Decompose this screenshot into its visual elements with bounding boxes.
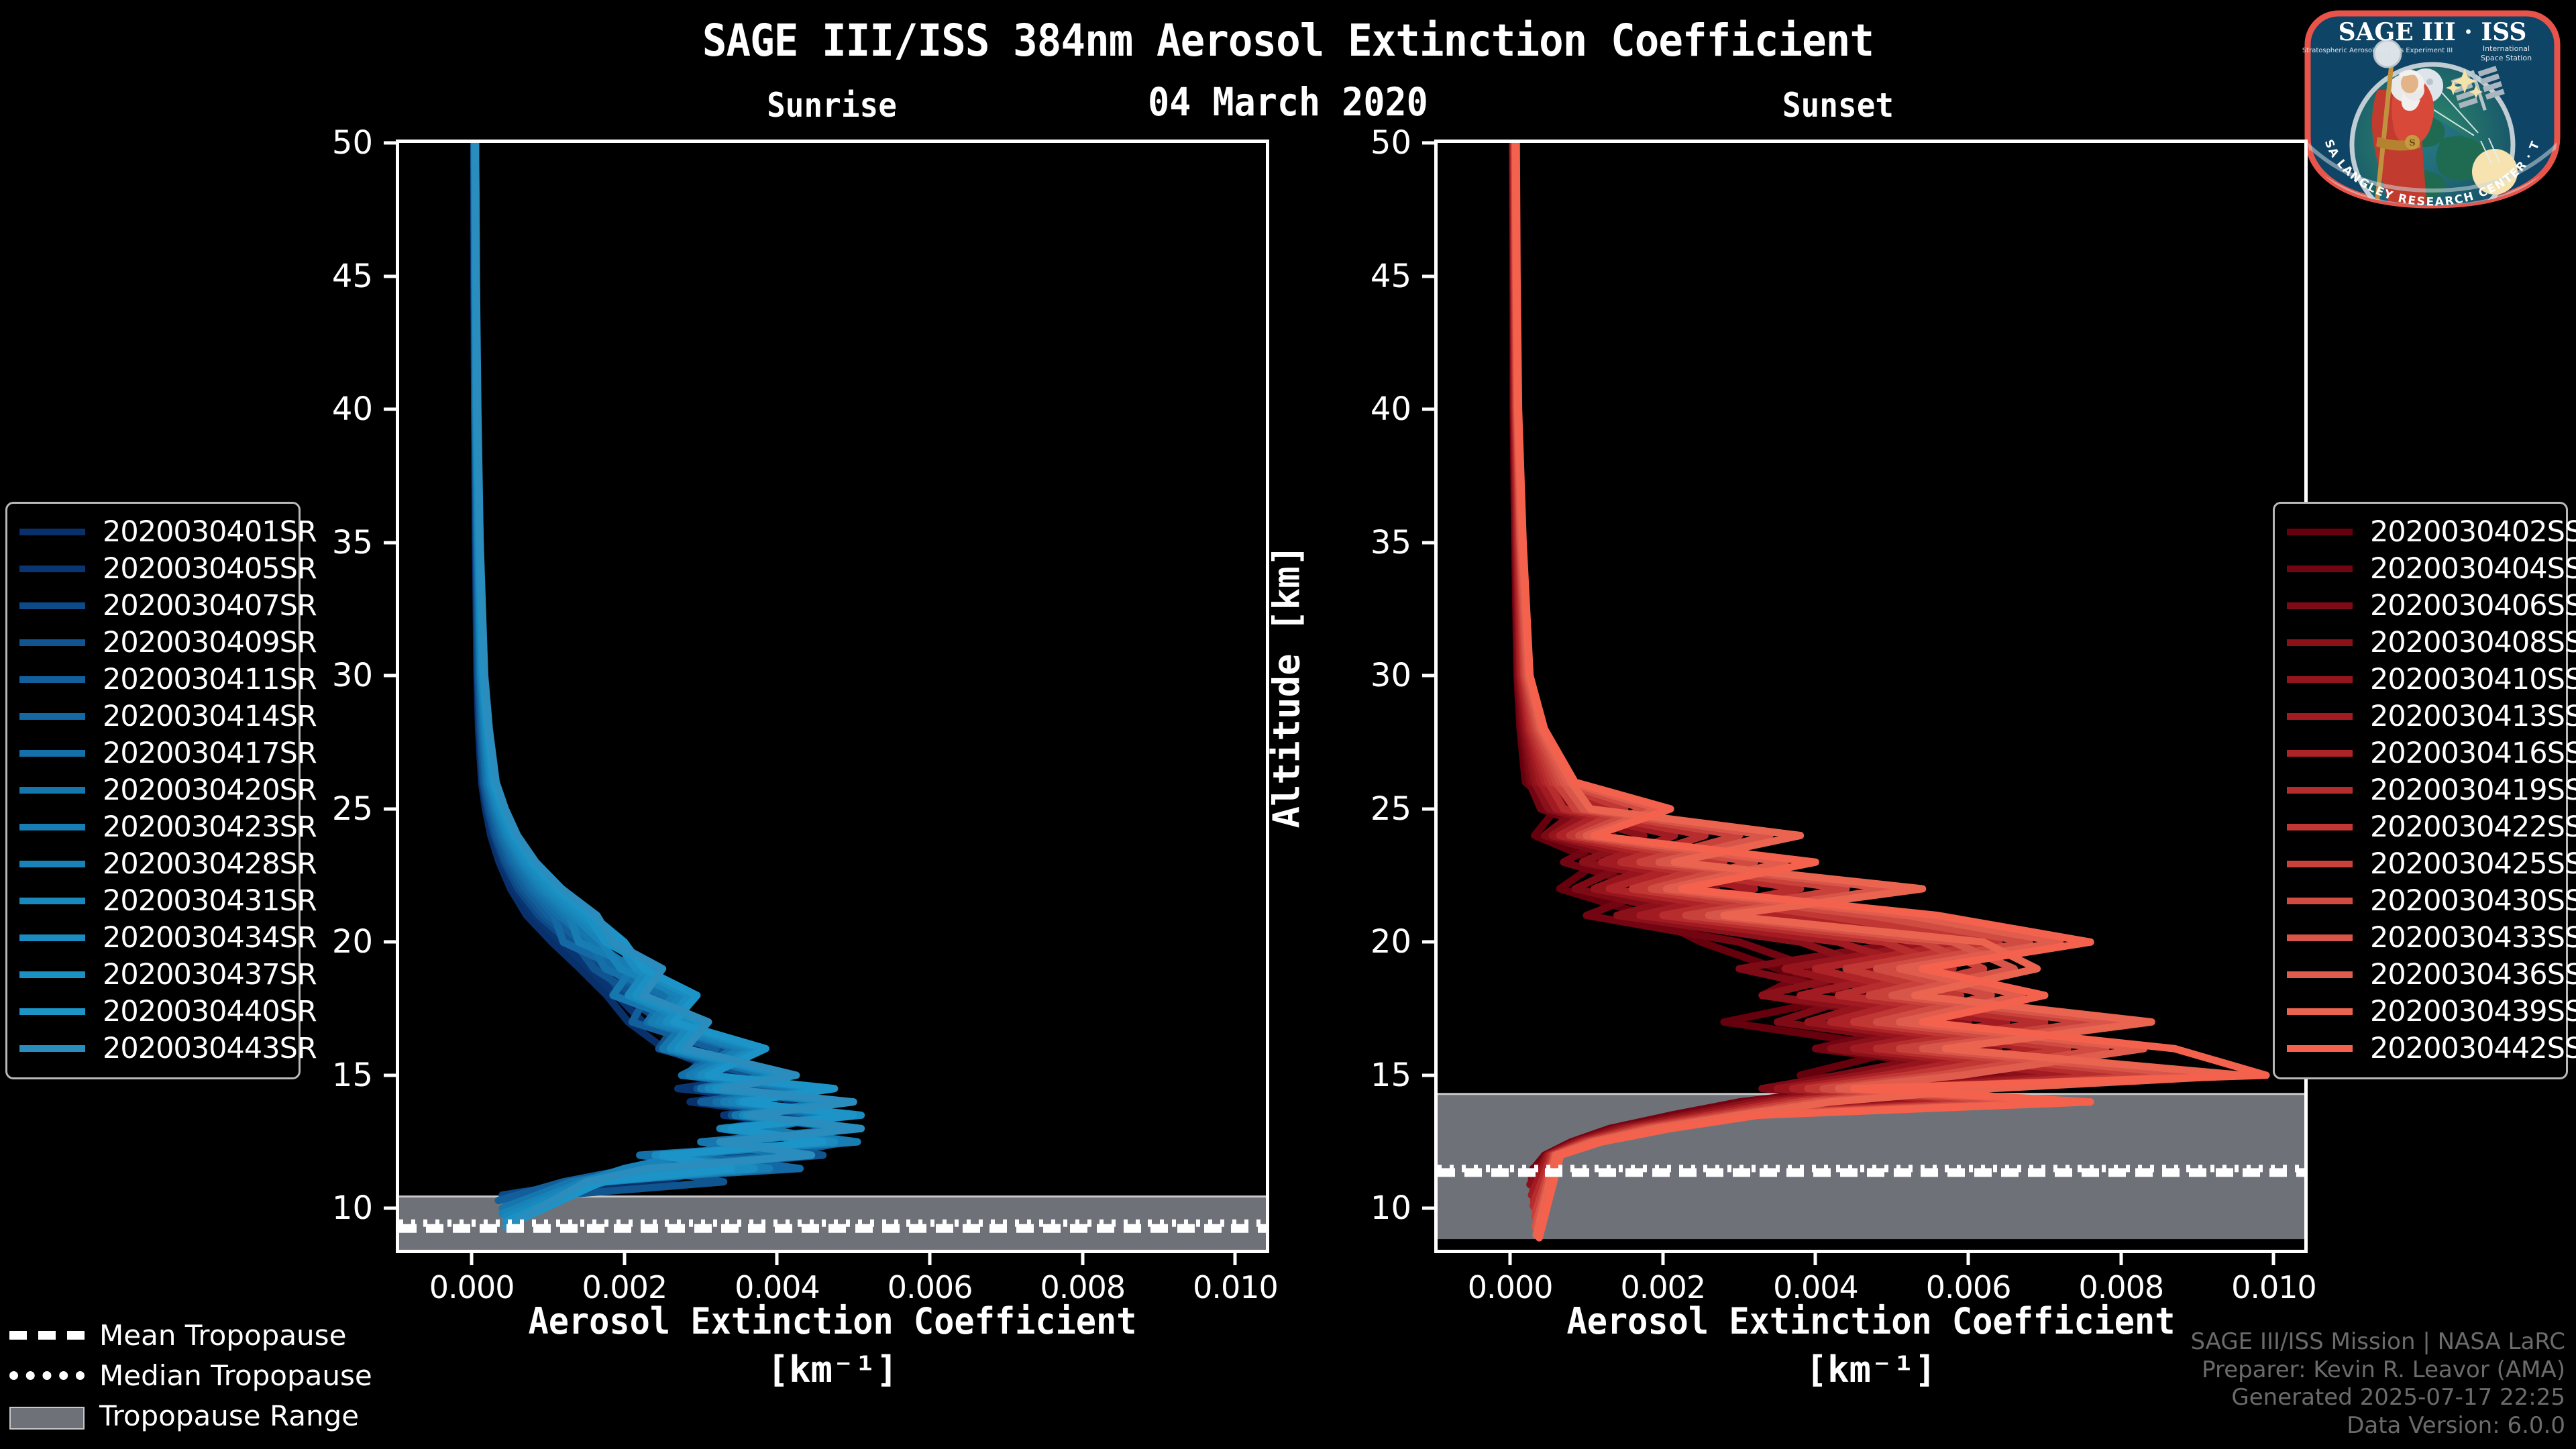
legend-sunset[interactable]: 2020030402SS2020030404SS2020030406SS2020… [2273, 502, 2568, 1079]
x-axis-tick-mark [470, 1253, 474, 1265]
y-axis-tick-mark [384, 1207, 396, 1210]
x-axis-tick-mark [623, 1253, 626, 1265]
x-axis-unit-sunset: [km⁻¹] [1434, 1348, 2308, 1391]
panel-title-sunset: Sunset [1715, 86, 1962, 125]
y-axis-tick-mark [384, 941, 396, 944]
y-axis-tick-label: 25 [1371, 790, 1411, 828]
x-axis-tick-mark [775, 1253, 779, 1265]
x-axis-tick-mark [1814, 1253, 1817, 1265]
y-axis-tick-mark [1422, 674, 1434, 678]
legend-color-swatch [2287, 639, 2353, 646]
y-axis-tick-mark [384, 1073, 396, 1077]
legend-color-swatch [19, 713, 85, 720]
y-axis-tick-mark [384, 274, 396, 278]
legend-item[interactable]: 2020030428SR [19, 845, 286, 882]
legend-color-swatch [19, 566, 85, 572]
y-axis-tick-mark [384, 142, 396, 145]
legend-item-label: 2020030406SS [2370, 589, 2576, 623]
legend-item[interactable]: 2020030436SS [2287, 956, 2554, 993]
legend-item-label: 2020030416SS [2370, 737, 2576, 770]
legend-item-label: 2020030401SR [103, 515, 317, 549]
x-axis-tick-mark [2272, 1253, 2275, 1265]
tropopause-key-label: Median Tropopause [99, 1359, 372, 1392]
y-axis-label-sunset: Altitude [km] [1266, 560, 1308, 828]
shaded-band-icon [9, 1407, 85, 1424]
y-axis-tick-mark [1422, 941, 1434, 944]
legend-item[interactable]: 2020030425SS [2287, 845, 2554, 882]
legend-item-label: 2020030410SS [2370, 663, 2576, 696]
y-axis-tick-mark [1422, 1073, 1434, 1077]
plot-panel-sunset [1434, 140, 2308, 1253]
legend-item-label: 2020030404SS [2370, 552, 2576, 586]
legend-item[interactable]: 2020030430SS [2287, 882, 2554, 919]
x-axis-unit-sunrise: [km⁻¹] [396, 1348, 1269, 1391]
legend-item-label: 2020030413SS [2370, 700, 2576, 733]
legend-color-swatch [2287, 676, 2353, 683]
legend-item[interactable]: 2020030416SS [2287, 735, 2554, 771]
y-axis-tick-label: 30 [1371, 657, 1411, 694]
data-series-line [475, 143, 854, 1208]
legend-item-label: 2020030419SS [2370, 773, 2576, 807]
y-axis-tick-label: 25 [332, 790, 373, 828]
logo-subtitle-right-1: International [2483, 44, 2530, 53]
x-axis-tick-mark [1234, 1253, 1237, 1265]
credits-line: Preparer: Kevin R. Leavor (AMA) [2190, 1356, 2565, 1384]
credits-block: SAGE III/ISS Mission | NASA LaRCPreparer… [2190, 1328, 2565, 1440]
legend-item[interactable]: 2020030401SR [19, 513, 286, 550]
legend-item-label: 2020030402SS [2370, 515, 2576, 549]
legend-color-swatch [19, 1008, 85, 1015]
legend-color-swatch [19, 787, 85, 794]
y-axis-tick-label: 15 [332, 1057, 373, 1094]
legend-item[interactable]: 2020030420SR [19, 771, 286, 808]
legend-item-label: 2020030428SR [103, 847, 317, 881]
legend-item-label: 2020030417SR [103, 737, 317, 770]
tropopause-key-label: Mean Tropopause [99, 1319, 346, 1352]
y-axis-tick-label: 35 [332, 524, 373, 561]
legend-color-swatch [2287, 1045, 2353, 1052]
legend-item-label: 2020030425SS [2370, 847, 2576, 881]
legend-item[interactable]: 2020030423SR [19, 808, 286, 845]
legend-color-swatch [2287, 750, 2353, 757]
x-axis-tick-mark [1967, 1253, 1970, 1265]
x-axis-tick-mark [2119, 1253, 2123, 1265]
y-axis-tick-label: 20 [332, 923, 373, 961]
legend-item[interactable]: 2020030434SR [19, 919, 286, 956]
legend-color-swatch [19, 824, 85, 830]
y-axis-tick-label: 50 [332, 124, 373, 162]
legend-item-label: 2020030431SR [103, 884, 317, 918]
legend-item-label: 2020030420SR [103, 773, 317, 807]
y-axis-tick-mark [1422, 408, 1434, 411]
legend-item-label: 2020030434SR [103, 921, 317, 955]
logo-subtitle-right-2: Space Station [2481, 54, 2532, 62]
tropopause-key: Mean TropopauseMedian TropopauseTropopau… [9, 1315, 385, 1436]
legend-color-swatch [2287, 602, 2353, 609]
legend-item[interactable]: 2020030437SR [19, 956, 286, 993]
legend-item-label: 2020030436SS [2370, 958, 2576, 991]
plot-panel-sunrise [396, 140, 1269, 1253]
legend-item[interactable]: 2020030409SR [19, 624, 286, 661]
legend-color-swatch [19, 971, 85, 978]
data-series-line [475, 143, 861, 1219]
tropopause-key-label: Tropopause Range [99, 1399, 359, 1432]
legend-color-swatch [2287, 566, 2353, 572]
legend-color-swatch [19, 861, 85, 867]
y-axis-tick-mark [384, 408, 396, 411]
legend-item-label: 2020030433SS [2370, 921, 2576, 955]
y-axis-tick-mark [1422, 274, 1434, 278]
legend-color-swatch [19, 602, 85, 609]
legend-color-swatch [2287, 824, 2353, 830]
legend-item-label: 2020030423SR [103, 810, 317, 844]
data-series-line [476, 143, 857, 1222]
legend-item-label: 2020030440SR [103, 995, 317, 1028]
legend-item[interactable]: 2020030443SR [19, 1030, 286, 1067]
dashed-line-icon [9, 1326, 85, 1344]
figure-root: SAGE III/ISS 384nm Aerosol Extinction Co… [0, 0, 2576, 1449]
legend-item-label: 2020030443SR [103, 1032, 317, 1065]
y-axis-tick-label: 40 [332, 390, 373, 428]
date-title: 04 March 2020 [103, 79, 2473, 125]
legend-color-swatch [19, 1045, 85, 1052]
logo-subtitle-left: Stratospheric Aerosol and Gas Experiment… [2302, 47, 2453, 54]
legend-item[interactable]: 2020030422SS [2287, 808, 2554, 845]
legend-color-swatch [19, 639, 85, 646]
y-axis-tick-label: 30 [332, 657, 373, 694]
y-axis-tick-mark [1422, 807, 1434, 810]
panel-title-sunrise: Sunrise [708, 86, 955, 125]
data-series-line [476, 143, 861, 1227]
legend-sunrise[interactable]: 2020030401SR2020030405SR2020030407SR2020… [5, 502, 301, 1079]
legend-item-label: 2020030411SR [103, 663, 317, 696]
legend-color-swatch [2287, 1008, 2353, 1015]
legend-item[interactable]: 2020030417SR [19, 735, 286, 771]
x-axis-tick-mark [1081, 1253, 1084, 1265]
legend-item-label: 2020030414SR [103, 700, 317, 733]
y-axis-tick-label: 15 [1371, 1057, 1411, 1094]
legend-color-swatch [2287, 971, 2353, 978]
legend-color-swatch [2287, 898, 2353, 904]
tropopause-key-item: Median Tropopause [9, 1355, 385, 1395]
legend-item[interactable]: 2020030419SS [2287, 771, 2554, 808]
dotted-line-icon [9, 1366, 85, 1384]
legend-item[interactable]: 2020030406SS [2287, 587, 2554, 624]
y-axis-tick-mark [1422, 142, 1434, 145]
sage-iii-iss-logo-icon: S SAGE III · ISS Stratospheric Aerosol a… [2298, 4, 2567, 212]
legend-item-label: 2020030409SR [103, 626, 317, 659]
legend-item-label: 2020030422SS [2370, 810, 2576, 844]
legend-item[interactable]: 2020030431SR [19, 882, 286, 919]
legend-item[interactable]: 2020030405SR [19, 550, 286, 587]
legend-item[interactable]: 2020030411SR [19, 661, 286, 698]
y-axis-tick-label: 35 [1371, 524, 1411, 561]
legend-color-swatch [2287, 787, 2353, 794]
legend-item[interactable]: 2020030404SS [2287, 550, 2554, 587]
y-axis-tick-label: 45 [1371, 258, 1411, 295]
x-axis-label-sunrise: Aerosol Extinction Coefficient [427, 1300, 1239, 1342]
legend-item[interactable]: 2020030442SS [2287, 1030, 2554, 1067]
legend-item[interactable]: 2020030414SR [19, 698, 286, 735]
y-axis-tick-label: 10 [1371, 1189, 1411, 1227]
legend-color-swatch [2287, 529, 2353, 535]
data-series-line [474, 143, 854, 1198]
legend-color-swatch [19, 676, 85, 683]
plot-canvas-sunset [1438, 143, 2304, 1250]
legend-item-label: 2020030442SS [2370, 1032, 2576, 1065]
tropopause-key-item: Tropopause Range [9, 1395, 385, 1436]
legend-item-label: 2020030407SR [103, 589, 317, 623]
logo-title: SAGE III · ISS [2339, 18, 2527, 46]
credits-line: Generated 2025-07-17 22:25 [2190, 1384, 2565, 1411]
y-axis-tick-mark [384, 807, 396, 810]
legend-item-label: 2020030437SR [103, 958, 317, 991]
x-axis-tick-mark [1509, 1253, 1512, 1265]
y-axis-tick-mark [1422, 1207, 1434, 1210]
legend-item-label: 2020030439SS [2370, 995, 2576, 1028]
legend-item[interactable]: 2020030440SR [19, 993, 286, 1030]
legend-color-swatch [2287, 861, 2353, 867]
y-axis-tick-label: 10 [332, 1189, 373, 1227]
data-series-line [475, 143, 854, 1216]
y-axis-tick-label: 45 [332, 258, 373, 295]
legend-color-swatch [19, 529, 85, 535]
legend-item[interactable]: 2020030402SS [2287, 513, 2554, 550]
y-axis-tick-mark [1422, 541, 1434, 544]
legend-color-swatch [19, 750, 85, 757]
y-axis-tick-label: 20 [1371, 923, 1411, 961]
legend-color-swatch [2287, 713, 2353, 720]
y-axis-tick-label: 50 [1371, 124, 1411, 162]
legend-item[interactable]: 2020030413SS [2287, 698, 2554, 735]
data-series-line [476, 143, 853, 1224]
legend-item[interactable]: 2020030407SR [19, 587, 286, 624]
legend-color-swatch [19, 934, 85, 941]
tropopause-key-item: Mean Tropopause [9, 1315, 385, 1355]
legend-item[interactable]: 2020030433SS [2287, 919, 2554, 956]
legend-item[interactable]: 2020030408SS [2287, 624, 2554, 661]
credits-line: SAGE III/ISS Mission | NASA LaRC [2190, 1328, 2565, 1356]
x-axis-tick-mark [1661, 1253, 1664, 1265]
legend-item-label: 2020030405SR [103, 552, 317, 586]
x-axis-label-sunset: Aerosol Extinction Coefficient [1465, 1300, 2277, 1342]
legend-item[interactable]: 2020030439SS [2287, 993, 2554, 1030]
y-axis-tick-mark [384, 541, 396, 544]
legend-color-swatch [2287, 934, 2353, 941]
x-axis-tick-mark [928, 1253, 932, 1265]
legend-item-label: 2020030430SS [2370, 884, 2576, 918]
y-axis-tick-label: 40 [1371, 390, 1411, 428]
legend-item-label: 2020030408SS [2370, 626, 2576, 659]
y-axis-tick-mark [384, 674, 396, 678]
plot-canvas-sunrise [399, 143, 1266, 1250]
credits-line: Data Version: 6.0.0 [2190, 1412, 2565, 1440]
legend-item[interactable]: 2020030410SS [2287, 661, 2554, 698]
page-title: SAGE III/ISS 384nm Aerosol Extinction Co… [103, 15, 2473, 66]
svg-text:S: S [2409, 138, 2415, 148]
legend-color-swatch [19, 898, 85, 904]
